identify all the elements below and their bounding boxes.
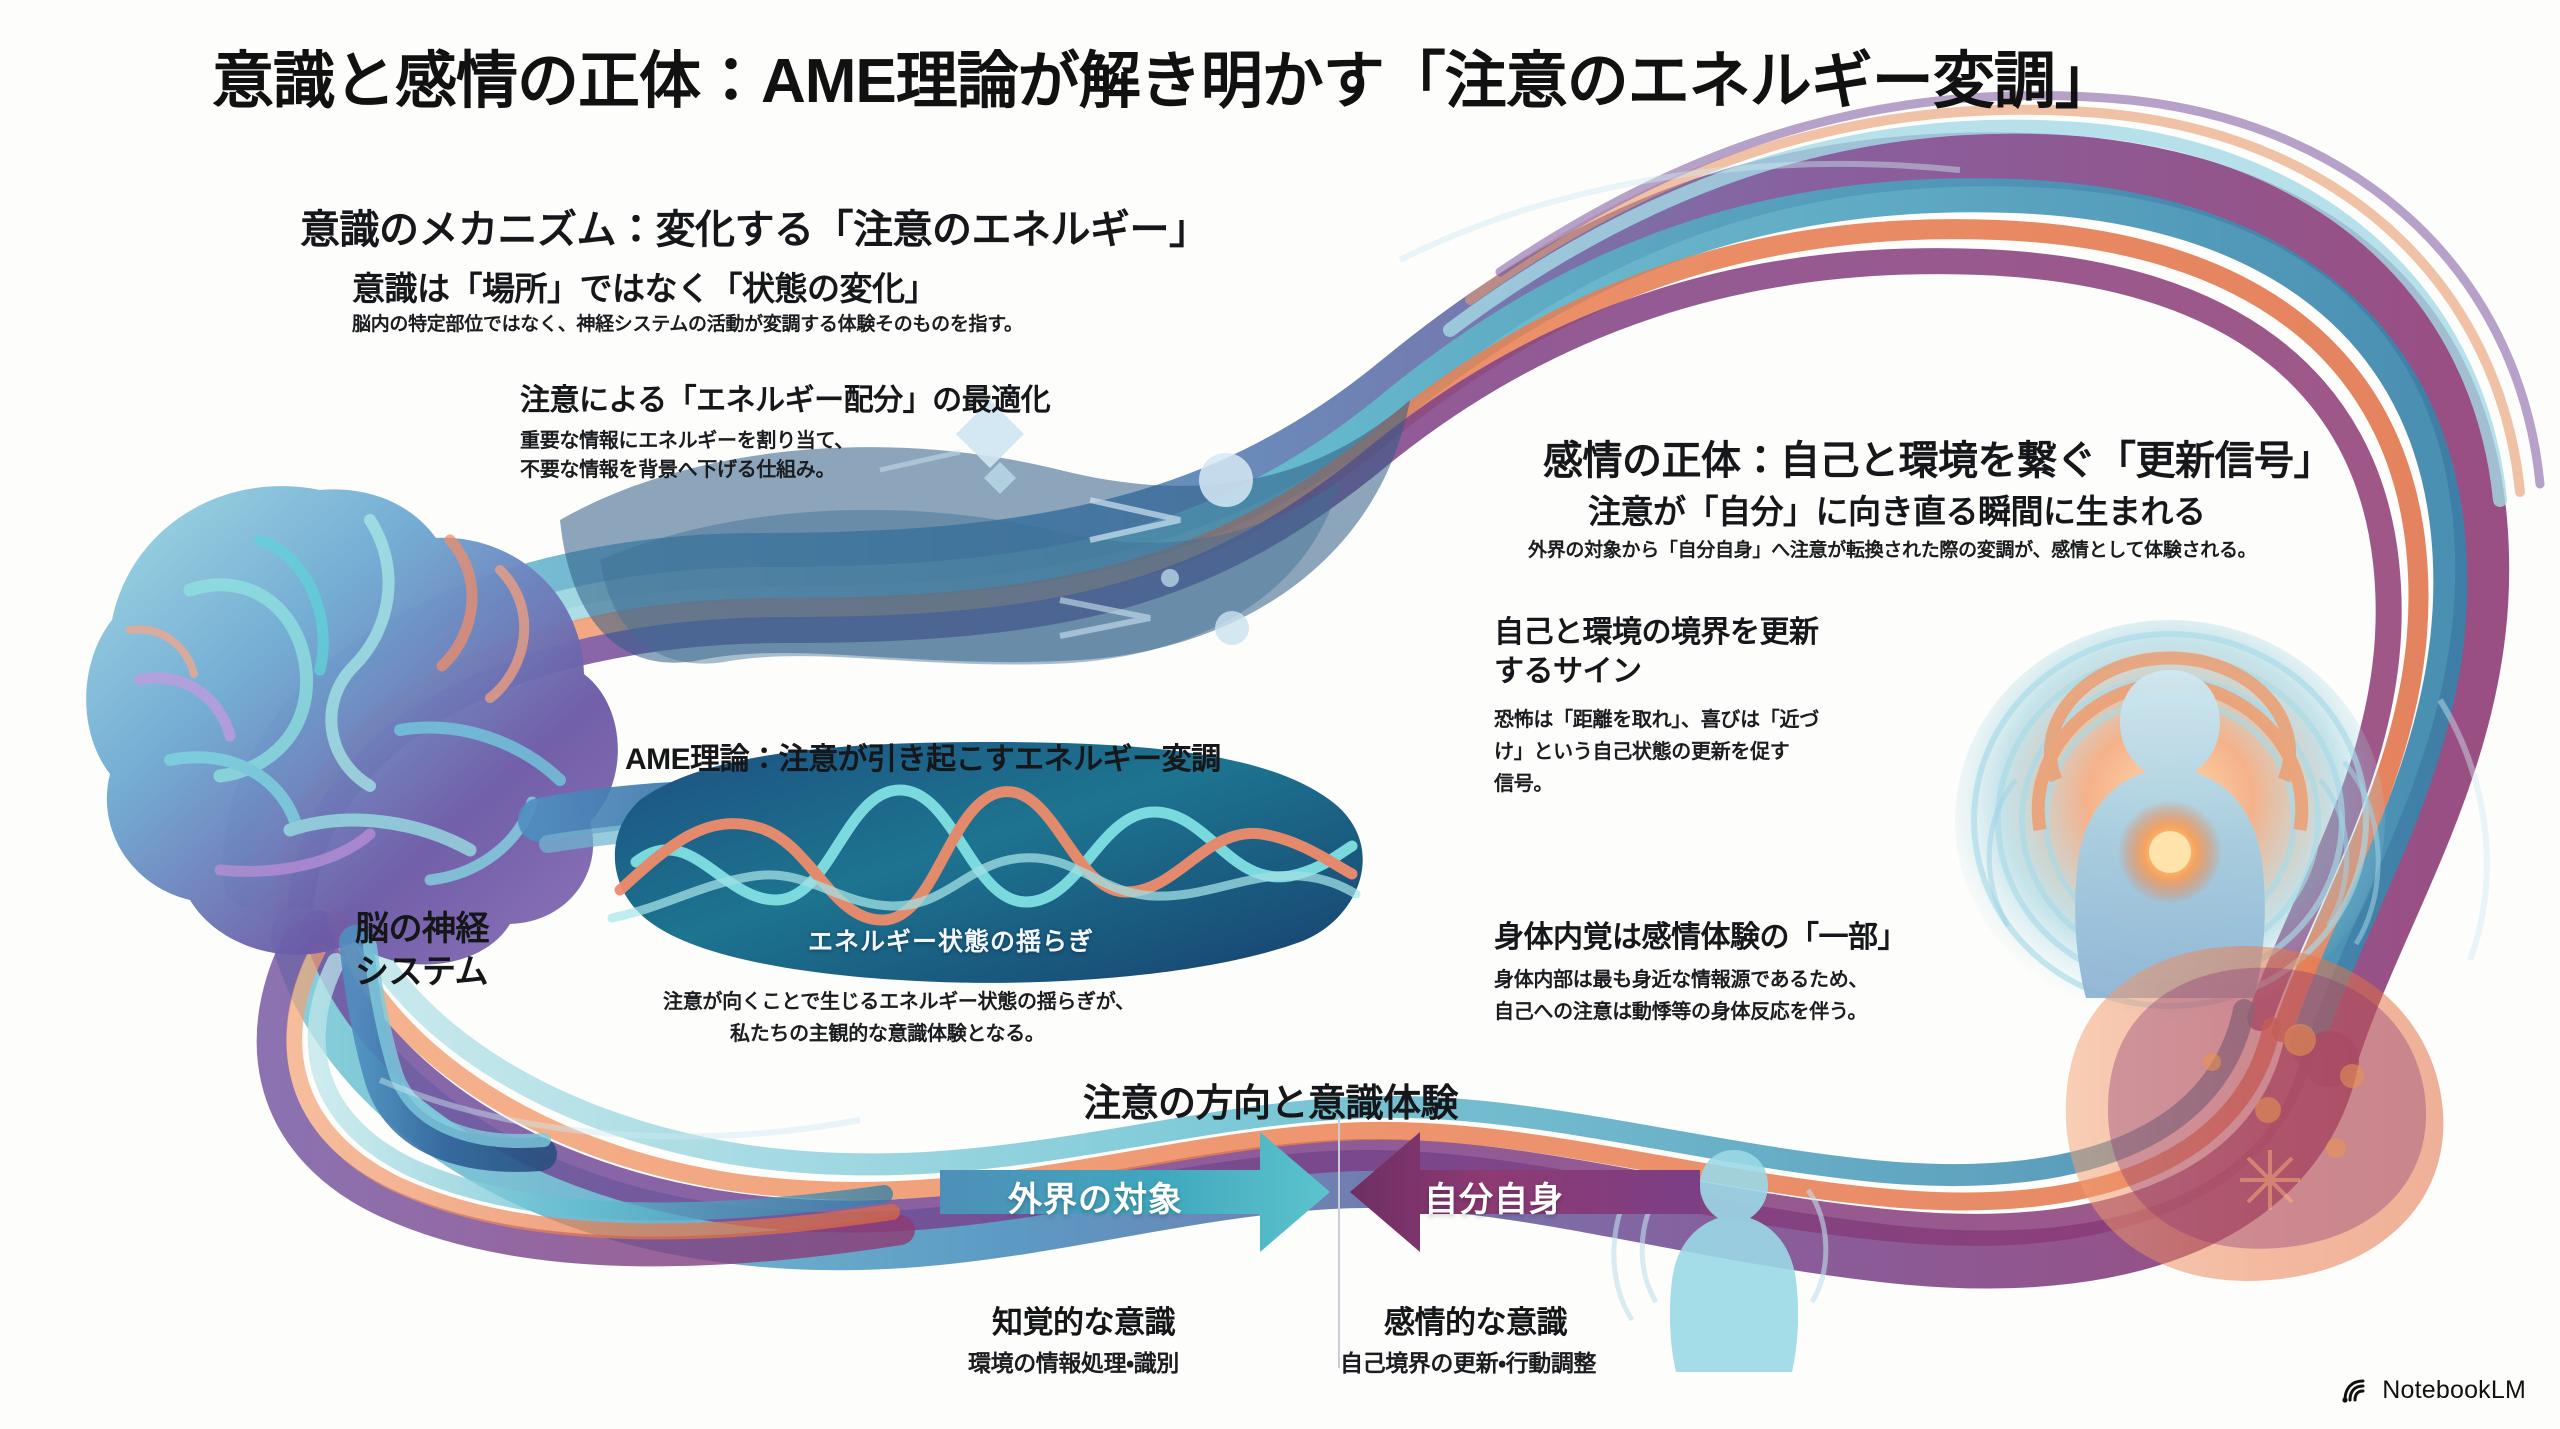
left-item-1-heading: 意識は「場所」ではなく「状態の変化」: [352, 262, 937, 310]
right-item-2-heading: 身体内覚は感情体験の「一部」: [1494, 920, 1907, 957]
flow-section-title: 注意の方向と意識体験: [1083, 1072, 1458, 1127]
flow-right-arrow-label: 自分自身: [1424, 1172, 1564, 1221]
left-item-2-body-line1: 重要な情報にエネルギーを割り当て、: [520, 427, 854, 455]
notebooklm-label: NotebookLM: [2382, 1376, 2526, 1405]
right-item-1-heading-line1: 自己と環境の境界を更新: [1494, 615, 1819, 652]
left-item-1-body: 脳内の特定部位ではなく、神経システムの活動が変調する体験そのものを指す。: [352, 312, 1023, 339]
right-section-subheading: 注意が「自分」に向き直る瞬間に生まれる: [1588, 485, 2206, 533]
wave-panel-label: エネルギー状態の揺らぎ: [808, 922, 1094, 958]
notebooklm-logo-icon: [2341, 1378, 2371, 1404]
right-item-1-body-line1: 恐怖は「距離を取れ」、喜びは「近づ: [1494, 706, 1819, 734]
flow-left-arrow-label: 外界の対象: [1008, 1172, 1183, 1221]
left-section-heading: 意識のメカニズム：変化する「注意のエネルギー」: [300, 197, 1209, 255]
ame-heading: AME理論：注意が引き起こすエネルギー変調: [625, 742, 1221, 779]
right-section-heading: 感情の正体：自己と環境を繋ぐ「更新信号」: [1543, 428, 2333, 486]
notebooklm-watermark: NotebookLM: [2341, 1376, 2526, 1405]
flow-left-caption-head: 知覚的な意識: [992, 1297, 1175, 1342]
brain-label-line1: 脳の神経: [355, 908, 489, 951]
infographic-canvas: 意識と感情の正体：AME理論が解き明かす「注意のエネルギー変調」 意識のメカニズ…: [0, 0, 2560, 1429]
flow-left-caption-sub: 環境の情報処理・識別: [968, 1344, 1179, 1378]
ame-caption-line1: 注意が向くことで生じるエネルギー状態の揺らぎが、: [663, 988, 1135, 1016]
right-item-2-body-line2: 自己への注意は動悸等の身体反応を伴う。: [1494, 998, 1867, 1026]
right-item-2-body-line1: 身体内部は最も身近な情報源であるため、: [1494, 966, 1868, 994]
page-title: 意識と感情の正体：AME理論が解き明かす「注意のエネルギー変調」: [212, 30, 2116, 120]
flow-right-caption-head: 感情的な意識: [1384, 1297, 1567, 1342]
flow-right-caption-sub: 自己境界の更新・行動調整: [1340, 1344, 1596, 1378]
ame-caption-line2: 私たちの主観的な意識体験となる。: [730, 1020, 1045, 1048]
right-item-1-body-line3: 信号。: [1494, 770, 1553, 798]
cellular-cluster-illustration: [2066, 946, 2444, 1281]
right-item-1-heading-line2: するサイン: [1494, 654, 1642, 691]
right-item-1-body-line2: け」という自己状態の更新を促す: [1494, 738, 1790, 766]
left-item-2-heading: 注意による「エネルギー配分」の最適化: [520, 383, 1050, 420]
flow-divider: [1338, 1118, 1340, 1368]
brain-label-line2: システム: [355, 951, 488, 994]
right-section-subbody: 外界の対象から「自分自身」へ注意が転換された際の変調が、感情として体験される。: [1528, 538, 2256, 565]
left-item-2-body-line2: 不要な情報を背景へ下げる仕組み。: [520, 456, 835, 484]
